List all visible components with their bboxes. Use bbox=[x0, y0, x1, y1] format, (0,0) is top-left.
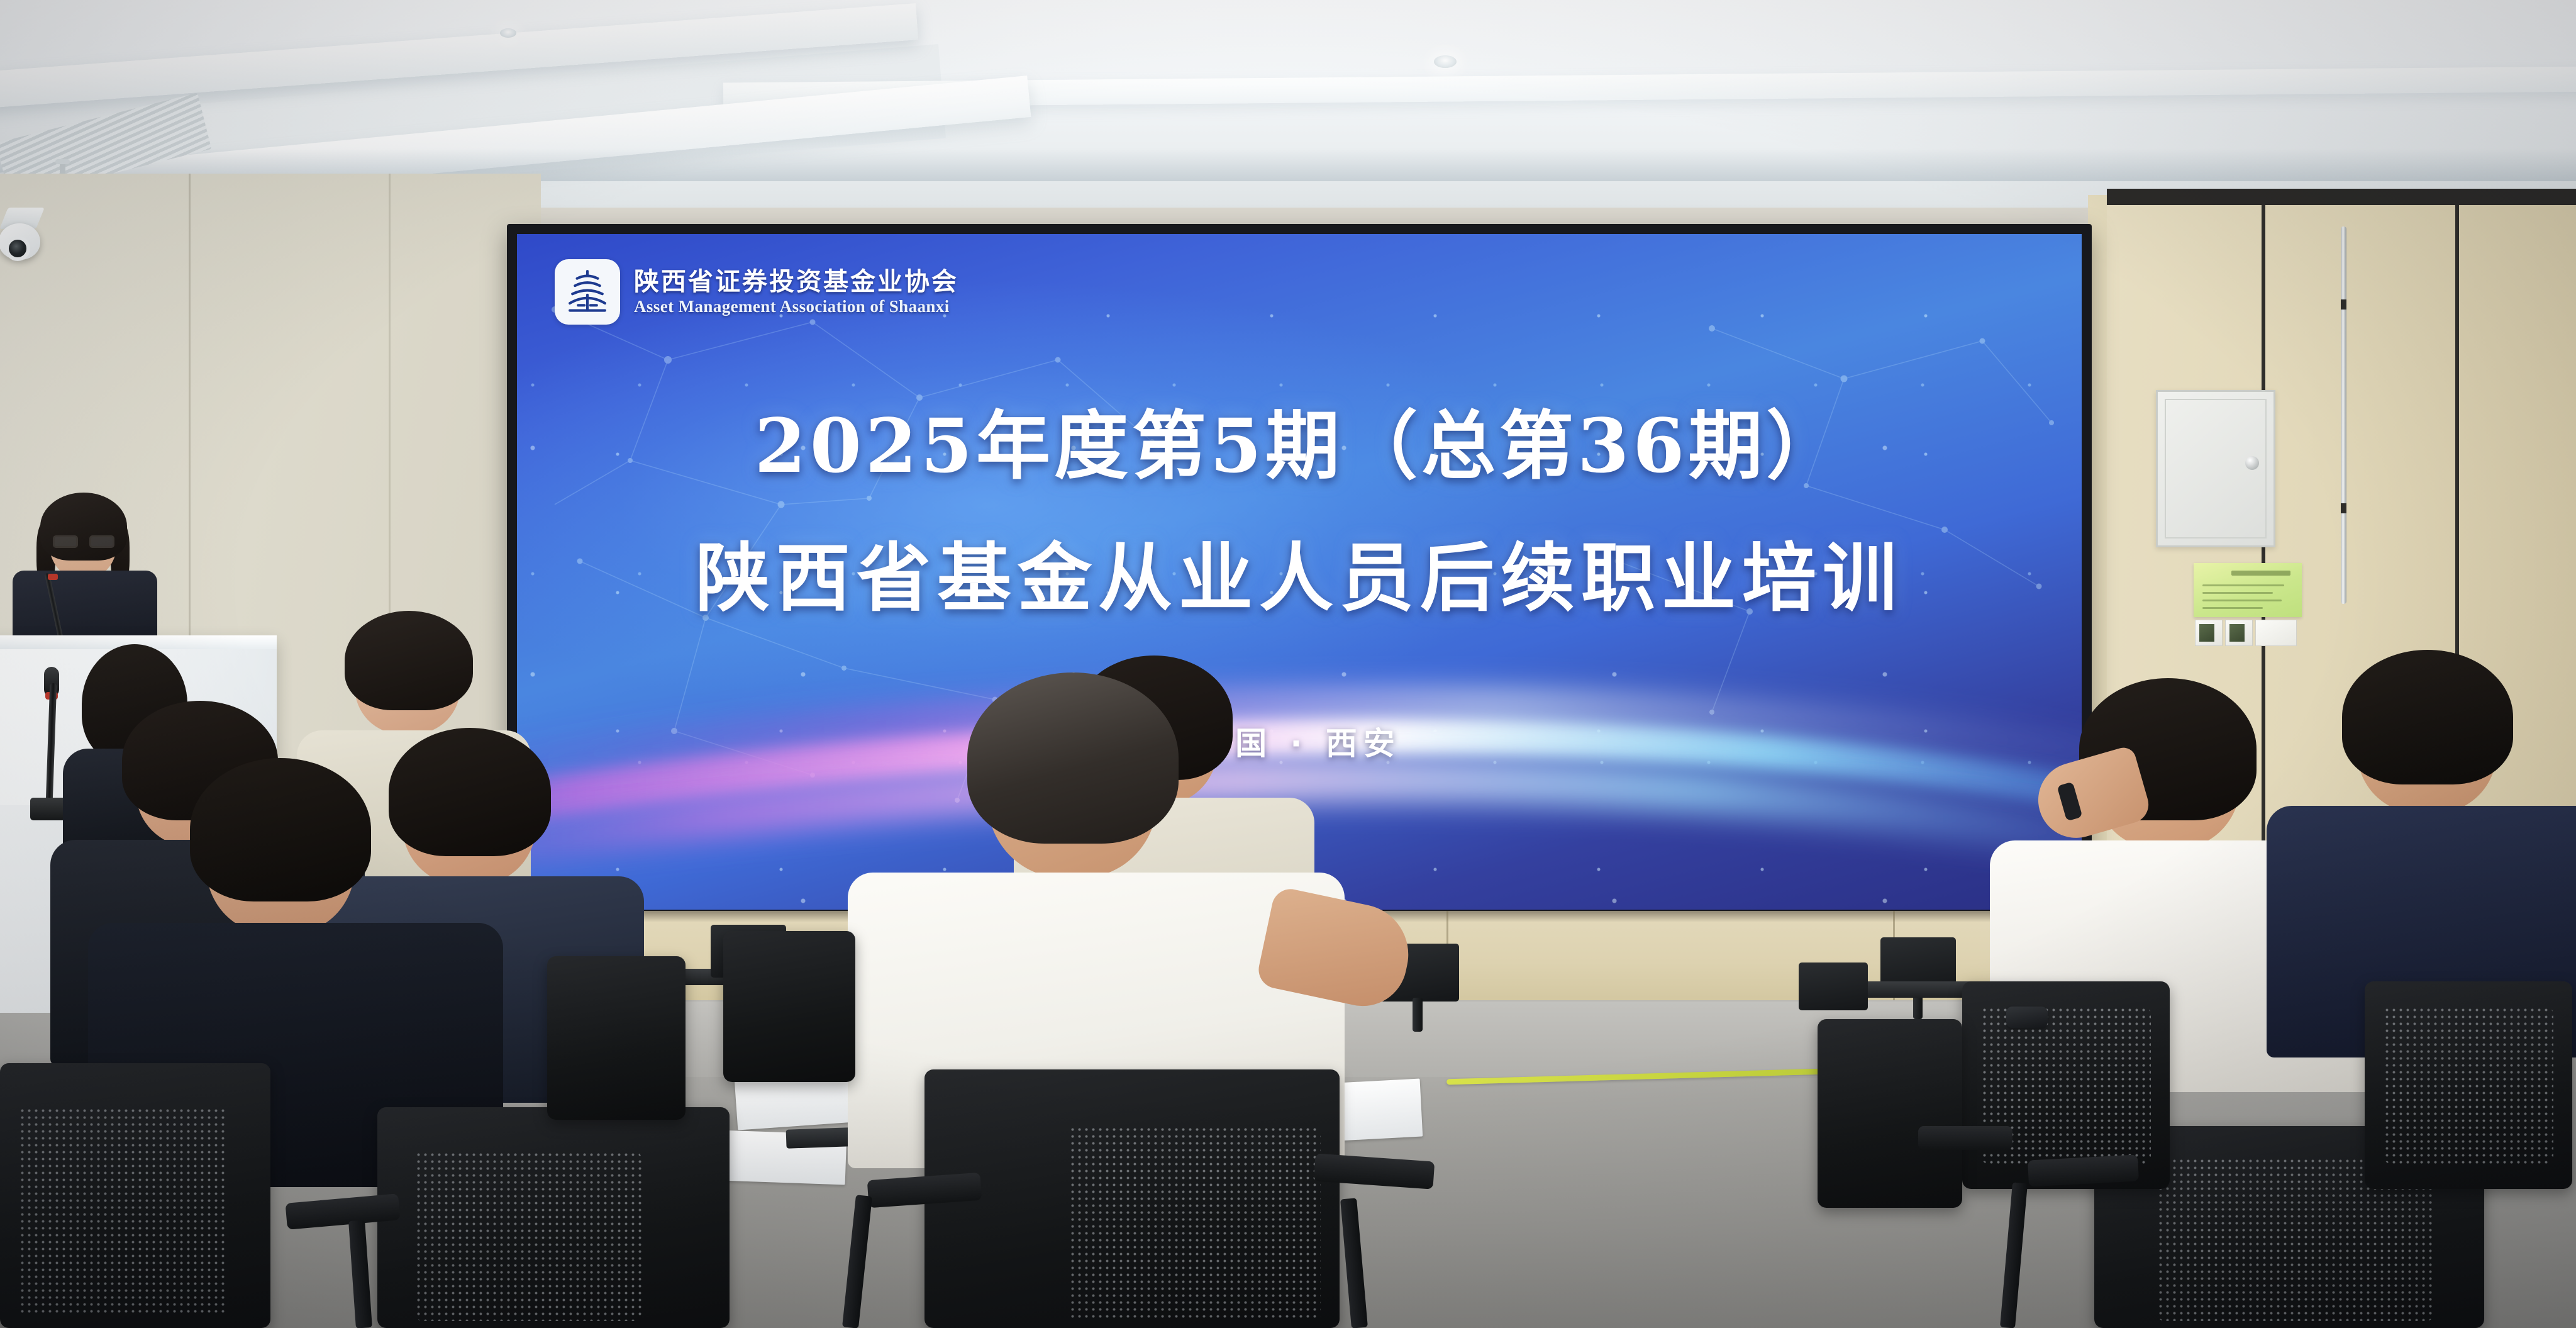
wall-right-trim bbox=[2107, 189, 2576, 205]
monitor-stem-center bbox=[1413, 998, 1423, 1032]
podium-mic-indicator bbox=[48, 574, 58, 580]
presentation-subtitle: 中国 · 西安 bbox=[517, 718, 2082, 764]
monitor-right-2 bbox=[1799, 963, 1868, 1010]
chair-far-left-mesh bbox=[19, 1107, 226, 1315]
association-name-en: Asset Management Association of Shaanxi bbox=[634, 296, 958, 316]
speaker-glasses-icon bbox=[53, 535, 114, 548]
desk-microphone-puck bbox=[2006, 1007, 2048, 1028]
ceiling-downlight-icon bbox=[1434, 55, 1457, 68]
chair-right-back[interactable] bbox=[1818, 1019, 1962, 1208]
chair-left-front-mesh bbox=[415, 1151, 641, 1321]
ceiling-downlight-2-icon bbox=[500, 28, 516, 38]
panel-knob-icon[interactable] bbox=[2245, 456, 2259, 470]
presentation-title: 2025年度第5期（总第36期） 陕西省基金从业人员后续职业培训 bbox=[517, 396, 2082, 628]
chair-left-back[interactable] bbox=[723, 931, 855, 1082]
association-name-cn: 陕西省证券投资基金业协会 bbox=[634, 267, 958, 296]
green-safety-sign bbox=[2194, 563, 2302, 617]
speaker-presenter bbox=[0, 500, 189, 651]
camera-lens-icon bbox=[5, 236, 30, 261]
conference-room-photo: 陕西省证券投资基金业协会 Asset Management Associatio… bbox=[0, 0, 2576, 1328]
door-handle-segment-2 bbox=[2341, 503, 2346, 513]
light-switch-plate-1[interactable] bbox=[2195, 620, 2223, 646]
chair-far-right-mesh bbox=[2384, 1007, 2553, 1164]
chair-armrest-4 bbox=[1918, 1126, 2012, 1150]
chair-center-mesh bbox=[1069, 1126, 1321, 1321]
association-emblem-icon bbox=[555, 259, 620, 325]
association-logo: 陕西省证券投资基金业协会 Asset Management Associatio… bbox=[555, 259, 958, 325]
title-line-1: 2025年度第5期（总第36期） bbox=[517, 396, 2082, 496]
door-handle-segment-1 bbox=[2341, 299, 2346, 310]
light-switch-plate-2[interactable] bbox=[2225, 620, 2253, 646]
pagoda-tower-glyph bbox=[562, 266, 613, 318]
chair-left-back-2[interactable] bbox=[547, 956, 686, 1120]
door-handle[interactable] bbox=[2341, 226, 2346, 604]
title-line-2: 陕西省基金从业人员后续职业培训 bbox=[517, 528, 2082, 628]
speaker-hair bbox=[40, 493, 127, 561]
light-switch-plate-3[interactable] bbox=[2255, 620, 2297, 646]
